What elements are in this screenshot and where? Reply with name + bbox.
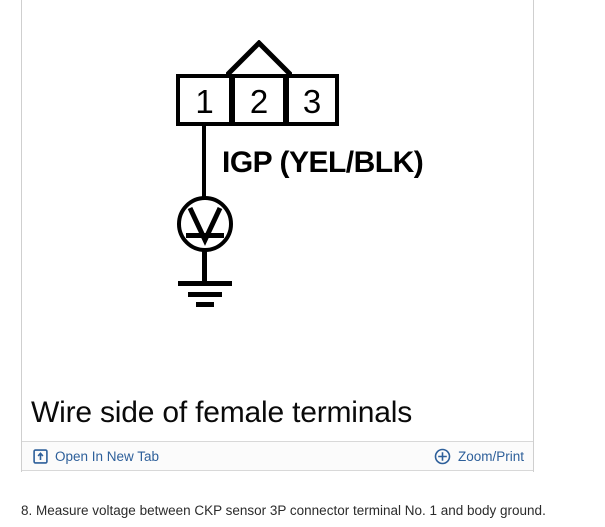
wire-line <box>202 124 206 200</box>
connector-pin-2-number: 2 <box>235 80 283 124</box>
zoom-plus-icon <box>434 448 451 465</box>
connector-pin-1: 1 <box>176 74 232 126</box>
zoom-print-button[interactable]: Zoom/Print <box>434 448 524 465</box>
zoom-print-label: Zoom/Print <box>458 448 524 465</box>
open-in-new-tab-button[interactable]: Open In New Tab <box>33 448 159 465</box>
connector-pin-3-number: 3 <box>289 80 335 124</box>
open-in-new-tab-icon <box>33 449 48 464</box>
connector-pin-1-number: 1 <box>180 80 229 124</box>
connector-lock-tab-icon <box>226 40 292 76</box>
voltmeter-icon <box>175 195 235 255</box>
figure-panel: 1 2 3 IGP (YEL/BLK) Wire side of female … <box>21 0 534 472</box>
connector-pin-3: 3 <box>286 74 339 126</box>
figure-toolbar: Open In New Tab Zoom/Print <box>22 441 533 471</box>
ground-icon <box>177 250 233 310</box>
step-instruction-text: 8. Measure voltage between CKP sensor 3P… <box>21 503 546 518</box>
wiring-diagram: 1 2 3 IGP (YEL/BLK) Wire side of female … <box>22 0 533 441</box>
open-in-new-tab-label: Open In New Tab <box>55 448 159 465</box>
wire-label-igp: IGP (YEL/BLK) <box>222 146 423 180</box>
figure-caption: Wire side of female terminals <box>31 396 412 430</box>
connector-pin-2: 2 <box>232 74 286 126</box>
